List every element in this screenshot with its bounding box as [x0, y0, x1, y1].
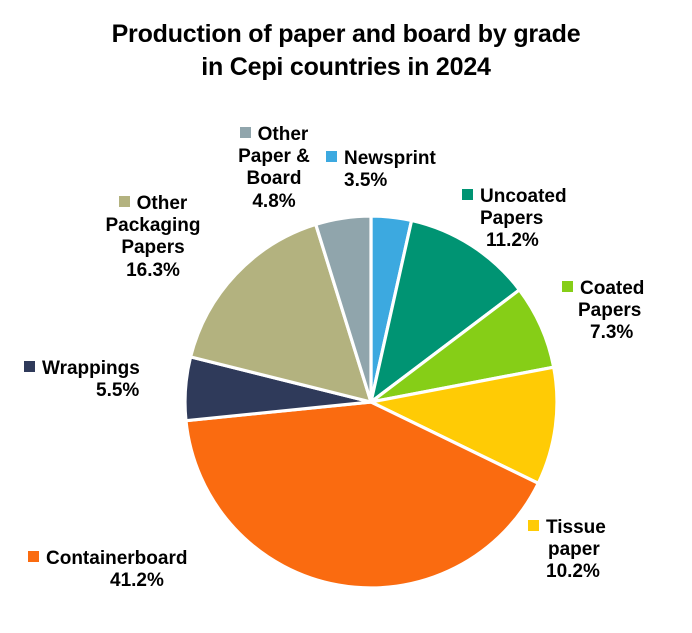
slice-value-tissue-paper: 10.2% [528, 561, 678, 583]
slice-label-text-containerboard: Containerboard [46, 548, 187, 569]
slice-label-containerboard[interactable]: Containerboard 41.2% [28, 548, 268, 592]
slice-label-text-other-packaging-2: Packaging [48, 215, 258, 237]
slice-label-text-uncoated-papers-1: Uncoated [480, 186, 567, 207]
swatch-other-paper-board [240, 127, 251, 138]
slice-label-wrappings[interactable]: Wrappings 5.5% [24, 358, 214, 402]
slice-label-tissue-paper[interactable]: Tissue paper 10.2% [528, 517, 678, 584]
pie-chart-figure: Production of paper and board by grade i… [0, 0, 692, 633]
slice-value-containerboard: 41.2% [28, 570, 268, 592]
swatch-newsprint [326, 151, 337, 162]
slice-value-wrappings: 5.5% [24, 380, 214, 402]
slice-label-uncoated-papers[interactable]: Uncoated Papers 11.2% [462, 186, 612, 253]
slice-label-text-other-paper-board-1: Other [258, 124, 309, 145]
slice-label-text-coated-papers-1: Coated [580, 278, 644, 299]
swatch-coated-papers [562, 281, 573, 292]
slice-label-text-uncoated-papers-2: Papers [462, 208, 612, 230]
slice-label-coated-papers[interactable]: Coated Papers 7.3% [562, 278, 692, 345]
slice-value-other-packaging-papers: 16.3% [48, 260, 258, 282]
slice-label-text-wrappings: Wrappings [42, 358, 140, 379]
slice-label-text-other-paper-board-2: Paper & [204, 146, 344, 168]
slice-label-text-other-packaging-1: Other [137, 193, 188, 214]
swatch-tissue-paper [528, 520, 539, 531]
chart-title-line-1: Production of paper and board by grade [0, 18, 692, 51]
slice-value-uncoated-papers: 11.2% [462, 230, 612, 252]
chart-title: Production of paper and board by grade i… [0, 18, 692, 83]
swatch-wrappings [24, 361, 35, 372]
swatch-other-packaging-papers [119, 196, 130, 207]
slice-value-coated-papers: 7.3% [562, 322, 692, 344]
slice-label-other-packaging-papers[interactable]: Other Packaging Papers 16.3% [48, 193, 258, 282]
slice-label-text-other-paper-board-3: Board [204, 168, 344, 190]
slice-label-text-other-packaging-3: Papers [48, 237, 258, 259]
slice-label-text-tissue-paper-1: Tissue [546, 517, 606, 538]
slice-label-text-newsprint: Newsprint [344, 148, 436, 169]
swatch-uncoated-papers [462, 189, 473, 200]
chart-title-line-2: in Cepi countries in 2024 [0, 51, 692, 84]
slice-label-text-coated-papers-2: Papers [562, 300, 692, 322]
swatch-containerboard [28, 551, 39, 562]
slice-label-text-tissue-paper-2: paper [528, 539, 678, 561]
